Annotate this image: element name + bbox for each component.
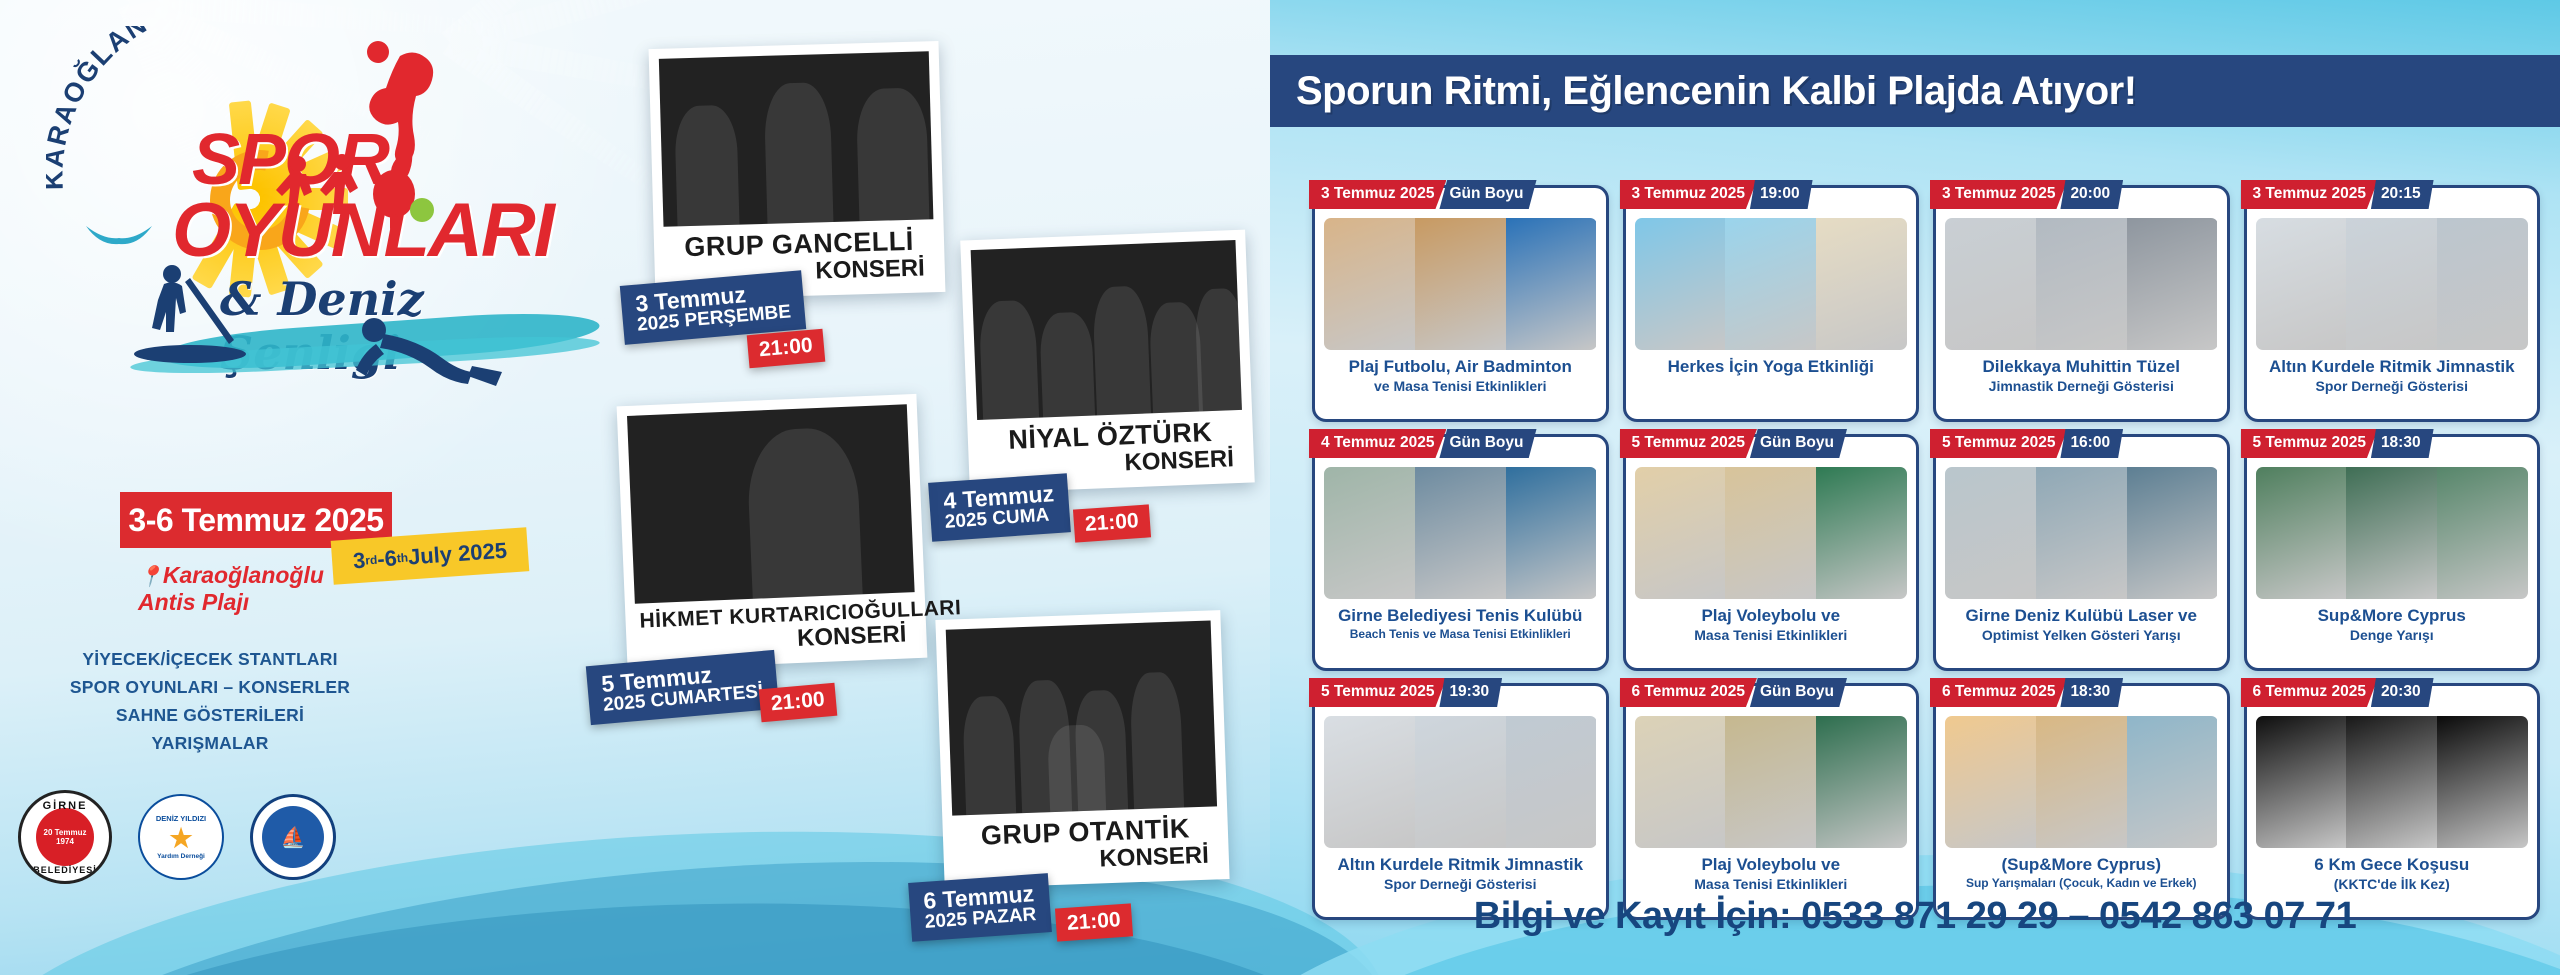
event-ribbon: 5 Temmuz 2025Gün Boyu xyxy=(1620,429,1848,458)
concert-timechip-otantik: 21:00 xyxy=(1055,903,1133,941)
event-time: 16:00 xyxy=(2060,429,2123,458)
thumbnail-segment xyxy=(1635,218,1726,350)
bullet-2: SAHNE GÖSTERİLERİ xyxy=(50,701,370,729)
thumbnail-segment xyxy=(2036,716,2127,848)
event-thumbnail xyxy=(1945,467,2218,599)
event-poster: KARAOĞLANOĞLU SPOR OYUNLARI & Deniz xyxy=(0,0,2560,975)
thumbnail-segment xyxy=(1506,716,1597,848)
event-date: 6 Temmuz 2025 xyxy=(1620,678,1757,707)
event-thumbnail xyxy=(1324,467,1597,599)
event-ribbon: 6 Temmuz 2025Gün Boyu xyxy=(1620,678,1848,707)
concert-photo-niyal xyxy=(971,240,1242,420)
bullet-3: YARIŞMALAR xyxy=(50,729,370,757)
event-time: Gün Boyu xyxy=(1439,180,1536,209)
event-subtitle: Beach Tenis ve Masa Tenisi Etkinlikleri xyxy=(1350,627,1571,641)
event-time: Gün Boyu xyxy=(1750,429,1847,458)
event-title: Altın Kurdele Ritmik Jimnastik xyxy=(2269,357,2515,377)
event-date: 3 Temmuz 2025 xyxy=(2241,180,2378,209)
event-ribbon: 6 Temmuz 202520:30 xyxy=(2241,678,2434,707)
event-card[interactable]: 5 Temmuz 2025Gün BoyuPlaj Voleybolu veMa… xyxy=(1623,434,1920,671)
seagull-icon xyxy=(84,220,154,250)
event-title: Plaj Voleybolu ve xyxy=(1701,606,1840,626)
thumbnail-segment xyxy=(1324,218,1415,350)
event-thumbnail xyxy=(1635,467,1908,599)
thumbnail-segment xyxy=(1415,467,1506,599)
event-subtitle: Optimist Yelken Gösteri Yarışı xyxy=(1982,627,2181,644)
event-title: Plaj Futbolu, Air Badminton xyxy=(1349,357,1572,377)
thumbnail-segment xyxy=(2437,716,2528,848)
event-subtitle: Masa Tenisi Etkinlikleri xyxy=(1694,876,1847,893)
event-subtitle: (KKTC'de İlk Kez) xyxy=(2334,876,2450,893)
thumbnail-segment xyxy=(1324,467,1415,599)
date-en-sup2: th xyxy=(396,551,408,566)
event-time: 18:30 xyxy=(2371,429,2434,458)
event-date: 3 Temmuz 2025 xyxy=(1930,180,2067,209)
thumbnail-segment xyxy=(1725,218,1816,350)
paddle-racket-icon xyxy=(370,170,436,234)
event-card[interactable]: 5 Temmuz 202516:00Girne Deniz Kulübü Las… xyxy=(1933,434,2230,671)
location-pin-icon: 📍 xyxy=(138,566,163,588)
event-thumbnail xyxy=(1635,218,1908,350)
event-thumbnail xyxy=(2256,467,2529,599)
event-grid: 3 Temmuz 2025Gün BoyuPlaj Futbolu, Air B… xyxy=(1312,185,2540,920)
event-ribbon: 4 Temmuz 2025Gün Boyu xyxy=(1309,429,1537,458)
bullet-0: YİYECEK/İÇECEK STANTLARI xyxy=(50,645,370,673)
thumbnail-segment xyxy=(2256,716,2347,848)
event-time: 18:30 xyxy=(2060,678,2123,707)
event-ribbon: 3 Temmuz 2025Gün Boyu xyxy=(1309,180,1537,209)
concert-card-gancelli[interactable]: GRUP GANCELLİ KONSERİ xyxy=(649,41,946,300)
event-date: 4 Temmuz 2025 xyxy=(1309,429,1446,458)
event-ribbon: 5 Temmuz 202518:30 xyxy=(2241,429,2434,458)
event-title: Girne Belediyesi Tenis Kulübü xyxy=(1338,606,1582,626)
event-time: Gün Boyu xyxy=(1439,429,1536,458)
event-subtitle: Jimnastik Derneği Gösterisi xyxy=(1989,378,2174,395)
event-ribbon: 3 Temmuz 202519:00 xyxy=(1620,180,1813,209)
thumbnail-segment xyxy=(1816,218,1907,350)
thumbnail-segment xyxy=(2036,218,2127,350)
thumbnail-segment xyxy=(2346,218,2437,350)
event-date: 6 Temmuz 2025 xyxy=(1930,678,2067,707)
sponsor-logos: GİRNE 20 Temmuz 1974 BELEDİYESİ DENİZ YI… xyxy=(18,790,336,884)
footer-contact: Bilgi ve Kayıt İçin: 0533 871 29 29 – 05… xyxy=(1270,895,2560,938)
thumbnail-segment xyxy=(2127,716,2218,848)
event-time: Gün Boyu xyxy=(1750,678,1847,707)
concert-timechip-niyal: 21:00 xyxy=(1073,504,1151,542)
location-line1: Karaoğlanoğlu xyxy=(163,562,324,588)
thumbnail-segment xyxy=(1506,467,1597,599)
event-date: 5 Temmuz 2025 xyxy=(1620,429,1757,458)
event-card[interactable]: 6 Temmuz 202520:306 Km Gece Koşusu(KKTC'… xyxy=(2244,683,2541,920)
concert-card-niyal[interactable]: NİYAL ÖZTÜRK KONSERİ xyxy=(960,230,1255,494)
event-time: 19:00 xyxy=(1750,180,1813,209)
girne-deniz-kulubu-logo: ⛵ xyxy=(250,794,336,880)
event-subtitle: Denge Yarışı xyxy=(2350,627,2434,644)
event-ribbon: 3 Temmuz 202520:00 xyxy=(1930,180,2123,209)
thumbnail-segment xyxy=(1725,467,1816,599)
event-card[interactable]: 5 Temmuz 202519:30Altın Kurdele Ritmik J… xyxy=(1312,683,1609,920)
deniz-yildizi-logo: DENİZ YILDIZI ★ Yardım Derneği xyxy=(138,794,224,880)
concert-photo-gancelli xyxy=(659,51,934,226)
event-subtitle: Spor Derneği Gösterisi xyxy=(1384,876,1536,893)
thumbnail-segment xyxy=(2127,467,2218,599)
thumbnail-segment xyxy=(1506,218,1597,350)
thumbnail-segment xyxy=(1945,716,2036,848)
thumbnail-segment xyxy=(2256,218,2347,350)
thumbnail-segment xyxy=(1324,716,1415,848)
location-block: 📍Karaoğlanoğlu Antis Plajı xyxy=(138,562,398,615)
event-ribbon: 3 Temmuz 202520:15 xyxy=(2241,180,2434,209)
paddleboarder-icon xyxy=(128,262,268,372)
event-card[interactable]: 6 Temmuz 202518:30(Sup&More Cyprus)Sup Y… xyxy=(1933,683,2230,920)
headline-banner: Sporun Ritmi, Eğlencenin Kalbi Plajda At… xyxy=(1270,55,2560,127)
event-time: 19:30 xyxy=(1439,678,1502,707)
thumbnail-segment xyxy=(2437,467,2528,599)
thumbnail-segment xyxy=(1635,467,1726,599)
event-ribbon: 5 Temmuz 202516:00 xyxy=(1930,429,2123,458)
thumbnail-segment xyxy=(2256,467,2347,599)
event-card[interactable]: 3 Temmuz 202520:15Altın Kurdele Ritmik J… xyxy=(2244,185,2541,422)
star-icon: ★ xyxy=(169,825,192,851)
bullet-1: SPOR OYUNLARI – KONSERLER xyxy=(50,673,370,701)
event-thumbnail xyxy=(1324,218,1597,350)
headline-text: Sporun Ritmi, Eğlencenin Kalbi Plajda At… xyxy=(1296,69,2137,114)
event-date: 5 Temmuz 2025 xyxy=(1309,678,1446,707)
event-title: Plaj Voleybolu ve xyxy=(1701,855,1840,875)
thumbnail-segment xyxy=(1635,716,1726,848)
girne-logo-mid: 20 Temmuz 1974 xyxy=(36,808,94,866)
event-subtitle: Spor Derneği Gösterisi xyxy=(2316,378,2468,395)
feature-bullets: YİYECEK/İÇECEK STANTLARI SPOR OYUNLARI –… xyxy=(50,645,370,757)
event-card[interactable]: 5 Temmuz 202518:30Sup&More CyprusDenge Y… xyxy=(2244,434,2541,671)
event-thumbnail xyxy=(2256,218,2529,350)
concert-timechip-gancelli: 21:00 xyxy=(747,329,825,368)
event-thumbnail xyxy=(1945,716,2218,848)
event-date: 6 Temmuz 2025 xyxy=(2241,678,2378,707)
event-card[interactable]: 3 Temmuz 202519:00Herkes İçin Yoga Etkin… xyxy=(1623,185,1920,422)
girne-logo-top: GİRNE xyxy=(43,800,88,812)
event-card[interactable]: 4 Temmuz 2025Gün BoyuGirne Belediyesi Te… xyxy=(1312,434,1609,671)
event-subtitle: ve Masa Tenisi Etkinlikleri xyxy=(1374,378,1546,395)
event-thumbnail xyxy=(1635,716,1908,848)
sailboat-icon: ⛵ xyxy=(262,806,324,868)
event-thumbnail xyxy=(1324,716,1597,848)
event-time: 20:00 xyxy=(2060,180,2123,209)
girne-belediyesi-logo: GİRNE 20 Temmuz 1974 BELEDİYESİ xyxy=(18,790,112,884)
girne-logo-bottom: BELEDİYESİ xyxy=(33,865,97,875)
thumbnail-segment xyxy=(2127,218,2218,350)
concert-card-hikmet[interactable]: HİKMET KURTARICIOĞULLARI KONSERİ xyxy=(617,394,928,670)
concert-datechip-niyal: 4 Temmuz 2025 CUMA xyxy=(928,473,1071,542)
event-card[interactable]: 3 Temmuz 202520:00Dilekkaya Muhittin Tüz… xyxy=(1933,185,2230,422)
event-thumbnail xyxy=(1945,218,2218,350)
thumbnail-segment xyxy=(2346,467,2437,599)
deniz-logo-bottom: Yardım Derneği xyxy=(157,853,205,860)
scuba-diver-icon xyxy=(340,310,520,400)
event-thumbnail xyxy=(2256,716,2529,848)
event-title: (Sup&More Cyprus) xyxy=(2001,855,2161,875)
thumbnail-segment xyxy=(1945,467,2036,599)
event-title: Girne Deniz Kulübü Laser ve xyxy=(1966,606,2197,626)
thumbnail-segment xyxy=(2036,467,2127,599)
thumbnail-segment xyxy=(1945,218,2036,350)
thumbnail-segment xyxy=(1415,218,1506,350)
event-title: 6 Km Gece Koşusu xyxy=(2314,855,2469,875)
event-date: 5 Temmuz 2025 xyxy=(2241,429,2378,458)
event-title: Herkes İçin Yoga Etkinliği xyxy=(1668,357,1874,377)
event-card[interactable]: 3 Temmuz 2025Gün BoyuPlaj Futbolu, Air B… xyxy=(1312,185,1609,422)
event-subtitle: Masa Tenisi Etkinlikleri xyxy=(1694,627,1847,644)
deniz-logo-top: DENİZ YILDIZI xyxy=(156,814,206,823)
concert-timechip-hikmet: 21:00 xyxy=(759,683,837,722)
event-subtitle: Sup Yarışmaları (Çocuk, Kadın ve Erkek) xyxy=(1966,876,2197,890)
event-time: 20:15 xyxy=(2371,180,2434,209)
concert-datechip-otantik: 6 Temmuz 2025 PAZAR xyxy=(908,873,1051,942)
event-date: 5 Temmuz 2025 xyxy=(1930,429,2067,458)
date-en-suffix: July 2025 xyxy=(407,538,508,571)
brand-lockup: KARAOĞLANOĞLU SPOR OYUNLARI & Deniz xyxy=(40,22,600,492)
event-title: Altın Kurdele Ritmik Jimnastik xyxy=(1337,855,1583,875)
thumbnail-segment xyxy=(1415,716,1506,848)
event-title: Dilekkaya Muhittin Tüzel xyxy=(1983,357,2180,377)
concert-photo-otantik xyxy=(946,620,1217,815)
event-card[interactable]: 6 Temmuz 2025Gün BoyuPlaj Voleybolu veMa… xyxy=(1623,683,1920,920)
thumbnail-segment xyxy=(1816,716,1907,848)
thumbnail-segment xyxy=(2346,716,2437,848)
event-date: 3 Temmuz 2025 xyxy=(1309,180,1446,209)
event-ribbon: 6 Temmuz 202518:30 xyxy=(1930,678,2123,707)
concert-photo-hikmet xyxy=(627,404,915,604)
event-ribbon: 5 Temmuz 202519:30 xyxy=(1309,678,1502,707)
location-line2: Antis Plajı xyxy=(138,589,398,615)
event-date: 3 Temmuz 2025 xyxy=(1620,180,1757,209)
thumbnail-segment xyxy=(2437,218,2528,350)
event-title: Sup&More Cyprus xyxy=(2318,606,2466,626)
thumbnail-segment xyxy=(1725,716,1816,848)
thumbnail-segment xyxy=(1816,467,1907,599)
concert-card-otantik[interactable]: GRUP OTANTİK KONSERİ xyxy=(935,610,1229,889)
event-time: 20:30 xyxy=(2371,678,2434,707)
